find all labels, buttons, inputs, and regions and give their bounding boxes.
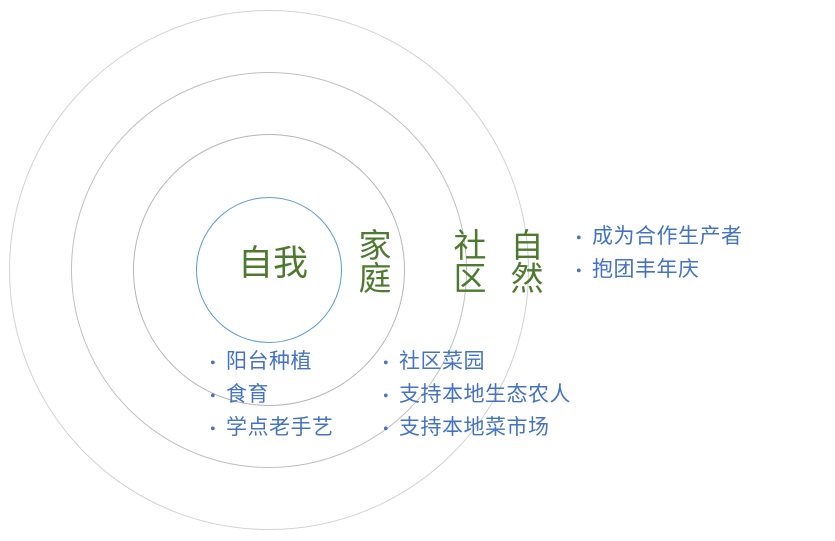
- bullet-dot-icon: •: [210, 380, 226, 413]
- bullet-list-family: • 阳台种植 • 食育 • 学点老手艺: [210, 345, 334, 444]
- list-item: • 支持本地生态农人: [383, 378, 571, 411]
- list-item: • 社区菜园: [383, 345, 571, 378]
- list-item-label: 支持本地菜市场: [399, 411, 550, 444]
- list-item-label: 成为合作生产者: [592, 220, 743, 253]
- list-item-label: 社区菜园: [399, 345, 485, 378]
- list-item: • 抱团丰年庆: [576, 253, 743, 286]
- list-item-label: 学点老手艺: [226, 411, 334, 444]
- bullet-dot-icon: •: [576, 255, 592, 288]
- ring-label-self: 自我: [238, 246, 308, 282]
- list-item-label: 食育: [226, 378, 269, 411]
- ring-label-family: 家庭: [351, 228, 390, 294]
- bullet-dot-icon: •: [210, 347, 226, 380]
- diagram-canvas: 自我 家庭 社区 自然 • 成为合作生产者 • 抱团丰年庆 • 阳台种植 • 食…: [0, 0, 835, 541]
- bullet-list-nature: • 成为合作生产者 • 抱团丰年庆: [576, 220, 743, 286]
- bullet-list-community: • 社区菜园 • 支持本地生态农人 • 支持本地菜市场: [383, 345, 571, 444]
- bullet-dot-icon: •: [383, 347, 399, 380]
- list-item: • 学点老手艺: [210, 411, 334, 444]
- bullet-dot-icon: •: [210, 413, 226, 446]
- bullet-dot-icon: •: [383, 380, 399, 413]
- list-item-label: 抱团丰年庆: [592, 253, 700, 286]
- ring-label-nature: 自然: [503, 228, 542, 294]
- bullet-dot-icon: •: [383, 413, 399, 446]
- bullet-dot-icon: •: [576, 222, 592, 255]
- list-item: • 成为合作生产者: [576, 220, 743, 253]
- ring-label-community: 社区: [446, 228, 485, 294]
- list-item: • 支持本地菜市场: [383, 411, 571, 444]
- list-item: • 食育: [210, 378, 334, 411]
- list-item-label: 支持本地生态农人: [399, 378, 571, 411]
- list-item: • 阳台种植: [210, 345, 334, 378]
- list-item-label: 阳台种植: [226, 345, 312, 378]
